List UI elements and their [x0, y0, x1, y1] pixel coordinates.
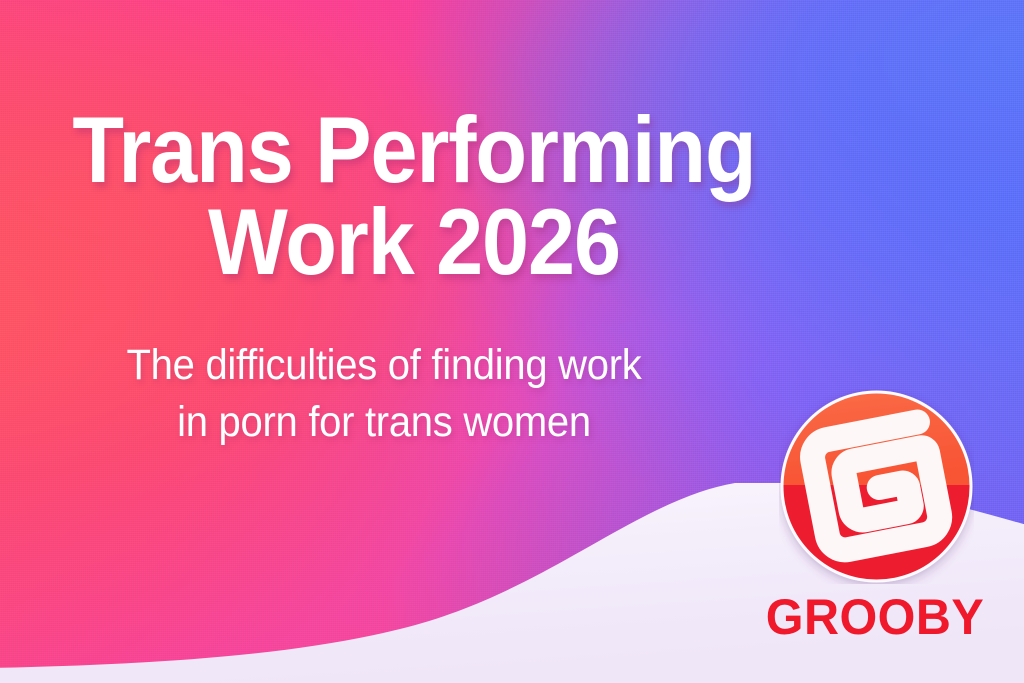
grooby-logo-icon — [779, 389, 974, 584]
brand-wordmark: GROOBY — [751, 592, 999, 642]
page-subtitle: The difficulties of finding work in porn… — [27, 337, 741, 451]
page-title: Trans Performing Work 2026 — [41, 104, 786, 288]
poster-canvas: Trans Performing Work 2026 The difficult… — [0, 0, 1024, 683]
